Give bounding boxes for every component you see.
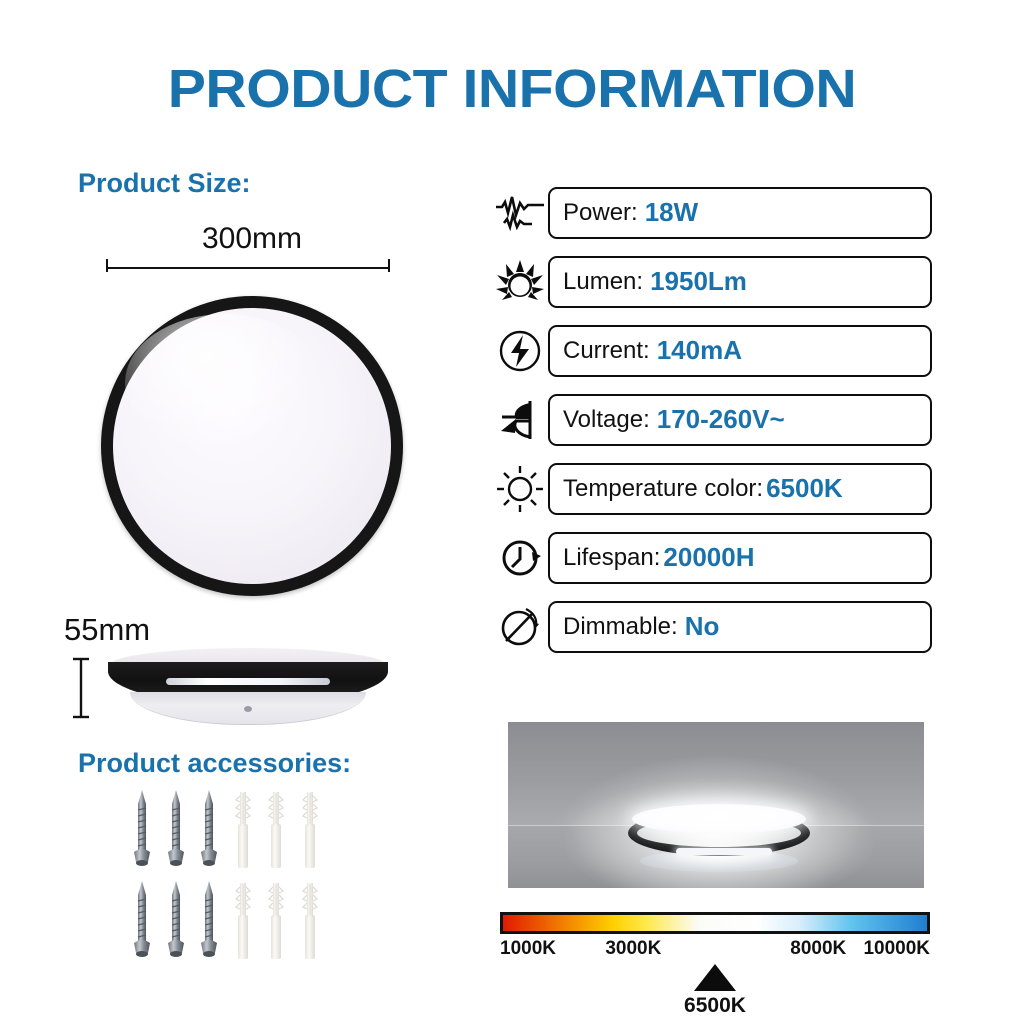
power-waveform-icon: [492, 187, 548, 239]
spec-label: Power:: [563, 199, 638, 227]
clock-arrow-icon: [492, 532, 548, 584]
product-side-base-screw: [244, 706, 252, 712]
spec-label: Lumen:: [563, 268, 643, 296]
screw-icon: [198, 879, 220, 963]
diameter-dimension-line: [104, 258, 392, 272]
product-information-infographic: PRODUCT INFORMATION Product Size: 300mm …: [0, 0, 1024, 1024]
sun-rays-filled-icon: [492, 256, 548, 308]
product-side-view: [104, 648, 392, 726]
spec-box: Current: 140mA: [548, 325, 932, 377]
product-accessories-heading: Product accessories:: [78, 748, 351, 779]
spec-label: Current:: [563, 337, 650, 365]
screw-icon: [198, 788, 220, 872]
wall-anchor-icon: [232, 879, 254, 963]
photo-light-side-slot: [676, 848, 772, 855]
product-photo: [508, 722, 924, 888]
spec-value: 140mA: [657, 335, 742, 366]
spec-row: Power: 18W: [492, 183, 932, 242]
kelvin-tick: 3000K: [605, 938, 661, 960]
wall-anchor-icon: [265, 788, 287, 872]
spec-box: Lifespan: 20000H: [548, 532, 932, 584]
spec-value: 6500K: [766, 473, 843, 504]
spec-row: Dimmable: No: [492, 597, 932, 656]
product-size-heading: Product Size:: [78, 168, 251, 199]
kelvin-tick: 1000K: [500, 938, 556, 960]
wall-anchor-icon: [232, 788, 254, 872]
spec-label: Temperature color:: [563, 475, 763, 503]
accessory-item: [193, 786, 226, 871]
height-dimension-line: [72, 655, 90, 721]
spec-value: 1950Lm: [650, 266, 747, 297]
spec-label: Dimmable:: [563, 613, 678, 641]
dimmer-crossed-icon: [492, 601, 548, 653]
kelvin-tick-labels: 1000K 3000K 8000K 10000K 6500K: [500, 938, 930, 960]
kelvin-gradient-bar: [500, 912, 930, 934]
spec-row: Voltage: 170-260V~: [492, 390, 932, 449]
accessory-item: [260, 877, 293, 962]
wall-anchor-icon: [265, 879, 287, 963]
kelvin-marker-triangle-icon: [694, 964, 736, 991]
photo-ceiling-light: [624, 804, 814, 876]
spec-box: Temperature color: 6500K: [548, 463, 932, 515]
spec-value: 20000H: [663, 542, 754, 573]
spec-value: No: [685, 611, 720, 642]
product-highlight: [125, 314, 324, 452]
accessories-group: [126, 786, 326, 962]
spec-box: Dimmable: No: [548, 601, 932, 653]
color-temperature-scale: 1000K 3000K 8000K 10000K 6500K: [500, 912, 930, 960]
sun-outline-icon: [492, 463, 548, 515]
wall-anchor-icon: [299, 788, 321, 872]
accessory-item: [126, 786, 159, 871]
product-side-light-slot: [166, 678, 330, 685]
accessory-item: [294, 877, 327, 962]
voltage-transformer-icon: [492, 394, 548, 446]
spec-row: Lifespan: 20000H: [492, 528, 932, 587]
screw-icon: [165, 879, 187, 963]
diameter-dimension-label: 300mm: [108, 222, 396, 256]
spec-label: Lifespan:: [563, 544, 660, 572]
spec-value: 18W: [645, 197, 698, 228]
spec-value: 170-260V~: [657, 404, 785, 435]
accessory-item: [260, 786, 293, 871]
height-dimension-label: 55mm: [64, 612, 150, 648]
spec-row: Lumen: 1950Lm: [492, 252, 932, 311]
accessory-item: [227, 877, 260, 962]
spec-box: Power: 18W: [548, 187, 932, 239]
screw-icon: [165, 788, 187, 872]
kelvin-tick: 10000K: [863, 938, 930, 960]
current-bolt-circle-icon: [492, 325, 548, 377]
product-top-view: [101, 296, 403, 596]
screw-icon: [131, 788, 153, 872]
kelvin-tick: 8000K: [790, 938, 846, 960]
accessory-item: [160, 786, 193, 871]
spec-row: Current: 140mA: [492, 321, 932, 380]
accessory-item: [126, 877, 159, 962]
accessory-item: [193, 877, 226, 962]
spec-row: Temperature color: 6500K: [492, 459, 932, 518]
page-title: PRODUCT INFORMATION: [0, 58, 1024, 120]
specification-list: Power: 18W: [492, 183, 932, 666]
photo-light-lit-face: [632, 804, 806, 834]
wall-anchor-icon: [299, 879, 321, 963]
screw-icon: [131, 879, 153, 963]
spec-box: Lumen: 1950Lm: [548, 256, 932, 308]
kelvin-marker-label: 6500K: [684, 994, 746, 1018]
accessory-item: [294, 786, 327, 871]
accessory-item: [227, 786, 260, 871]
spec-box: Voltage: 170-260V~: [548, 394, 932, 446]
spec-label: Voltage:: [563, 406, 650, 434]
accessory-item: [160, 877, 193, 962]
